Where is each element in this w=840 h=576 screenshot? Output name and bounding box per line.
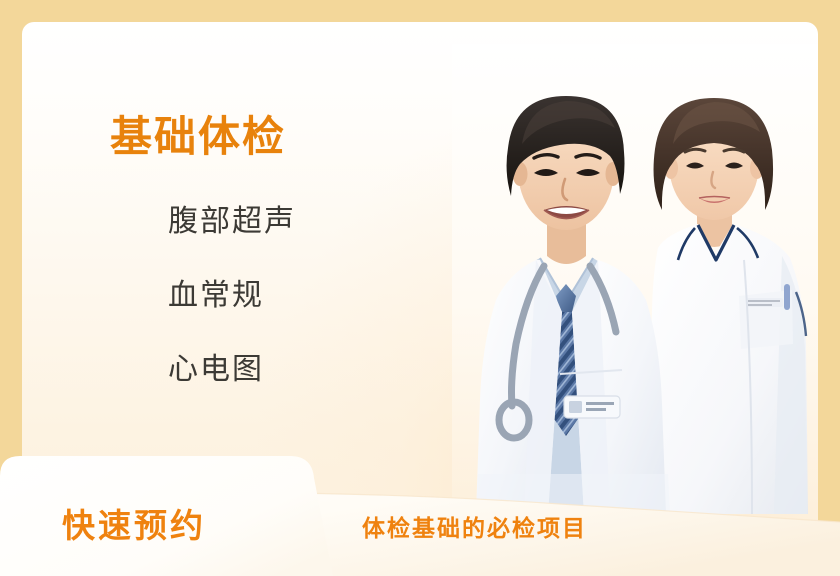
footer-tagline: 体检基础的必检项目 — [362, 517, 587, 540]
footer: 快速预约 体检基础的必检项目 — [0, 452, 840, 576]
quick-booking-panel[interactable]: 快速预约 — [0, 454, 345, 576]
quick-booking-label: 快速预约 — [62, 509, 206, 542]
service-list: 腹部超声 血常规 心电图 — [168, 207, 296, 385]
list-item: 血常规 — [168, 281, 296, 311]
doctor-nurse-photo — [452, 44, 818, 514]
list-item: 心电图 — [168, 355, 296, 385]
list-item: 腹部超声 — [168, 207, 296, 237]
promo-banner: 基础体检 腹部超声 血常规 心电图 — [0, 0, 840, 576]
page-title: 基础体检 — [110, 114, 286, 160]
